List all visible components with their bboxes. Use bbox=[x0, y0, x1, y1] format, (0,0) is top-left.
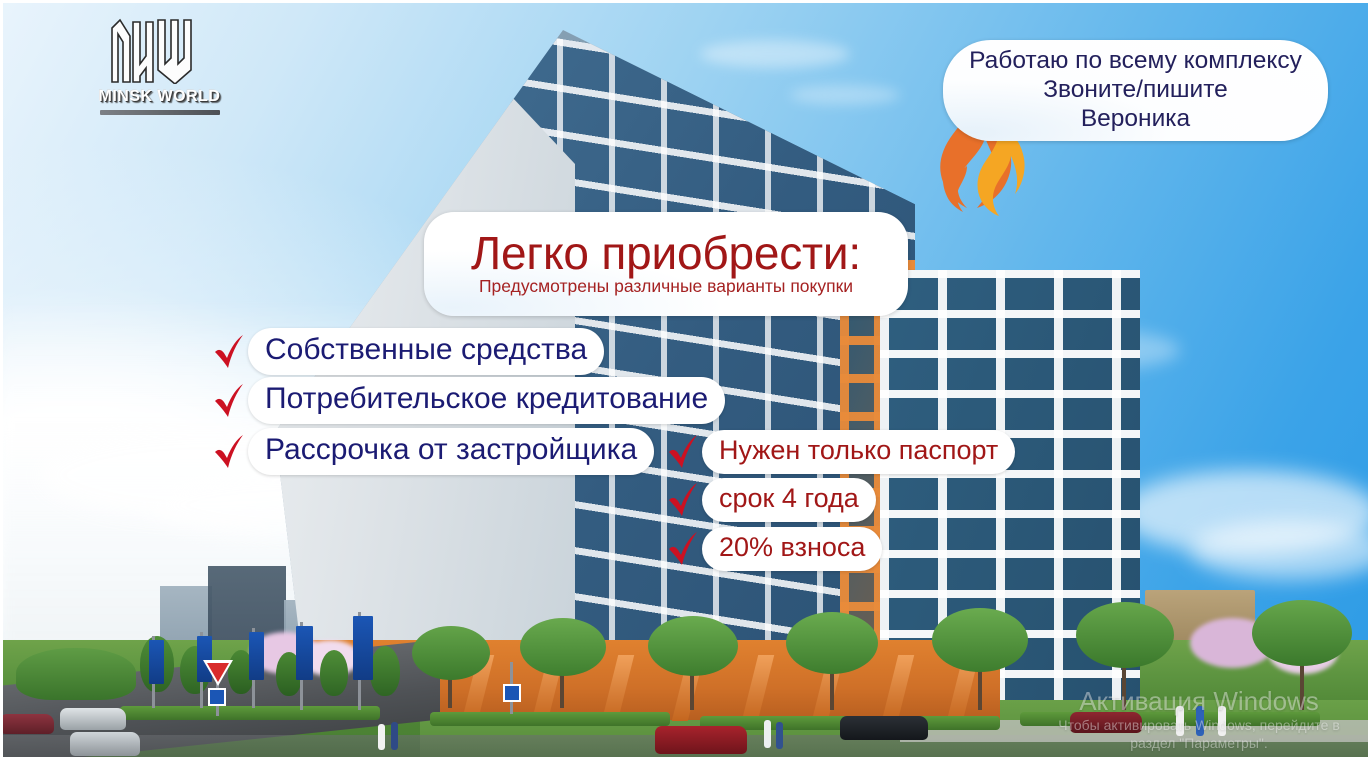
tree bbox=[520, 618, 606, 676]
person bbox=[391, 722, 398, 750]
headline-subtitle: Предусмотрены различные варианты покупки bbox=[479, 276, 853, 297]
headline-title: Легко приобрести: bbox=[471, 228, 861, 278]
installment-term-row[interactable]: Нужен только паспорт bbox=[666, 430, 1015, 474]
payment-option-row[interactable]: Потребительское кредитование bbox=[212, 377, 725, 424]
tree bbox=[370, 646, 400, 696]
pedestrian-sign-icon bbox=[208, 688, 226, 706]
headline-callout: Легко приобрести: Предусмотрены различны… bbox=[424, 212, 908, 316]
payment-option-row[interactable]: Собственные средства bbox=[212, 328, 604, 375]
tree bbox=[786, 612, 878, 674]
tree bbox=[648, 616, 738, 676]
installment-term-row[interactable]: 20% взноса bbox=[666, 527, 882, 571]
contact-line-3: Вероника bbox=[1081, 104, 1190, 133]
tree bbox=[16, 648, 136, 700]
windows-activation-watermark: Активация Windows Чтобы активировать Win… bbox=[1049, 686, 1349, 752]
cloud bbox=[790, 85, 900, 105]
person bbox=[378, 724, 385, 750]
check-mark-icon bbox=[666, 529, 700, 569]
installment-term-label: 20% взноса bbox=[702, 527, 882, 571]
installment-term-label: Нужен только паспорт bbox=[702, 430, 1015, 474]
mw-monogram-icon bbox=[106, 18, 206, 84]
payment-option-label: Потребительское кредитование bbox=[248, 377, 725, 424]
logo-underline bbox=[100, 110, 220, 115]
yield-sign-icon bbox=[203, 660, 233, 686]
street-banner bbox=[149, 640, 164, 684]
watermark-subtitle: Чтобы активировать Windows, перейдите в … bbox=[1049, 716, 1349, 752]
logo-wordmark: MINSK WORLD bbox=[92, 88, 227, 106]
tree bbox=[1076, 602, 1174, 668]
tree bbox=[932, 608, 1028, 672]
contact-callout[interactable]: Работаю по всему комплексу Звоните/пишит… bbox=[943, 40, 1328, 141]
check-mark-icon bbox=[212, 432, 246, 472]
payment-option-label: Рассрочка от застройщика bbox=[248, 428, 654, 475]
tree bbox=[412, 626, 490, 680]
car bbox=[70, 732, 140, 756]
minsk-world-logo[interactable]: MINSK WORLD bbox=[92, 18, 227, 118]
car bbox=[60, 708, 126, 730]
pedestrian-sign-icon bbox=[503, 684, 521, 702]
installment-term-row[interactable]: срок 4 года bbox=[666, 478, 876, 522]
watermark-title: Активация Windows bbox=[1049, 686, 1349, 716]
check-mark-icon bbox=[666, 432, 700, 472]
person bbox=[776, 722, 783, 749]
check-mark-icon bbox=[212, 381, 246, 421]
car bbox=[655, 726, 747, 754]
person bbox=[764, 720, 771, 748]
street-banner bbox=[249, 632, 264, 680]
street-banner bbox=[353, 616, 373, 680]
check-mark-icon bbox=[666, 480, 700, 520]
car bbox=[0, 714, 54, 734]
contact-line-2: Звоните/пишите bbox=[1043, 75, 1228, 104]
hedge bbox=[120, 706, 380, 720]
tree bbox=[320, 650, 348, 696]
cloud bbox=[700, 40, 850, 68]
tree bbox=[1252, 600, 1352, 666]
promo-slide: MINSK WORLD Работаю по всему комплексу З… bbox=[0, 0, 1371, 760]
installment-term-label: срок 4 года bbox=[702, 478, 876, 522]
street-banner bbox=[296, 626, 313, 680]
payment-option-label: Собственные средства bbox=[248, 328, 604, 375]
payment-option-row[interactable]: Рассрочка от застройщика bbox=[212, 428, 654, 475]
contact-line-1: Работаю по всему комплексу bbox=[969, 46, 1302, 75]
hedge bbox=[430, 712, 670, 726]
car bbox=[840, 716, 928, 740]
check-mark-icon bbox=[212, 332, 246, 372]
